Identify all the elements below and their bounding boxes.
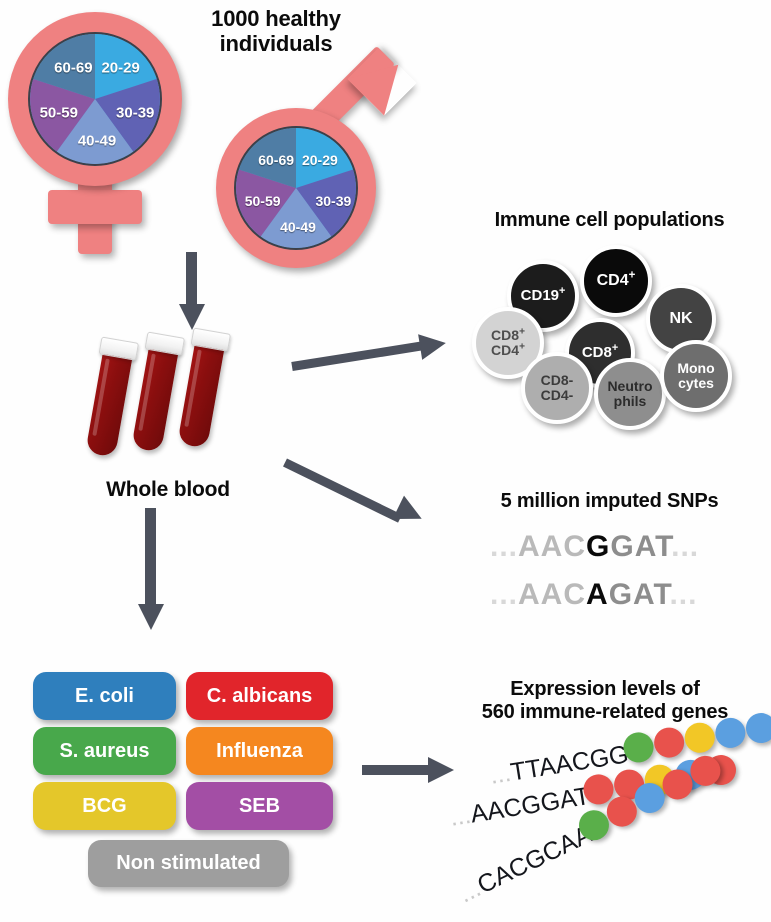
- arrow-head: [418, 330, 448, 360]
- tube-body: [177, 337, 225, 449]
- stimulus-c-albicans[interactable]: C. albicans: [186, 672, 333, 720]
- pie-label-60-69: 60-69: [258, 152, 294, 168]
- stimulus-s-aureus[interactable]: S. aureus: [33, 727, 176, 775]
- snp-suffix: GAT: [609, 578, 670, 611]
- stimulus-label: C. albicans: [207, 685, 313, 708]
- rna-sequence-text: ...CACGCAA: [454, 820, 596, 909]
- immune-cell-cd8-pos: CD8+: [565, 318, 635, 388]
- immune-cell-label: Neutrophils: [607, 379, 652, 408]
- arrow-down-blood-to-stimuli: [135, 508, 165, 638]
- immune-cell-cd8-cd4-double-neg: CD8-CD4-: [521, 352, 593, 424]
- arrow-head: [393, 496, 428, 531]
- arrow-blood-to-immune-cells: [292, 330, 460, 380]
- immune-cell-label: CD8+: [582, 345, 618, 361]
- snp-tail-ellipsis: ...: [671, 530, 699, 563]
- cohort-title: 1000 healthy individuals: [176, 6, 376, 56]
- whole-blood-group: [98, 332, 298, 492]
- immune-cell-label: CD8-CD4-: [541, 373, 574, 402]
- stimulus-non-stimulated[interactable]: Non stimulated: [88, 840, 289, 887]
- arrow-head: [179, 304, 205, 330]
- stimulus-bcg[interactable]: BCG: [33, 782, 176, 830]
- arrow-shaft: [291, 341, 423, 371]
- immune-cell-cd8-cd4-double-pos: CD8+CD4+: [472, 307, 544, 379]
- stimulus-label: S. aureus: [59, 740, 149, 763]
- immune-cell-label: Monocytes: [677, 361, 714, 390]
- male-age-pie: 20-2930-3940-4950-5960-69: [234, 126, 358, 250]
- immune-cell-monocytes: Monocytes: [660, 340, 732, 412]
- pie-label-30-39: 30-39: [116, 105, 154, 122]
- female-age-pie: 20-2930-3940-4950-5960-69: [28, 32, 162, 166]
- rna-bases: CACGCAA: [473, 820, 596, 899]
- pie-label-20-29: 20-29: [101, 60, 139, 77]
- immune-cell-label: CD4+: [597, 273, 636, 290]
- arrow-blood-to-snps: [285, 452, 455, 552]
- snp-variant-base: G: [586, 530, 610, 563]
- male-gender-symbol: 20-2930-3940-4950-5960-69: [208, 82, 418, 262]
- immune-cell-label: CD19+: [521, 288, 566, 304]
- immune-cell-populations-title: Immune cell populations: [452, 209, 767, 232]
- pie-label-40-49: 40-49: [78, 133, 116, 150]
- tube-body: [85, 346, 133, 458]
- stimulus-label: SEB: [239, 795, 280, 818]
- arrow-head: [138, 604, 164, 630]
- cohort-title-line1: 1000 healthy: [176, 6, 376, 31]
- pie-label-20-29: 20-29: [302, 152, 338, 168]
- snp-lead-ellipsis: ...: [490, 578, 518, 611]
- immune-cell-cd19: CD19+: [507, 260, 579, 332]
- snp-variant-base: A: [586, 578, 609, 611]
- pie-label-40-49: 40-49: [280, 219, 316, 235]
- stimulus-label: Non stimulated: [116, 852, 260, 875]
- female-gender-symbol: 20-2930-3940-4950-5960-69: [8, 12, 188, 252]
- stimulus-e-coli[interactable]: E. coli: [33, 672, 176, 720]
- immune-cell-label: NK: [669, 311, 692, 328]
- expression-title-line2: 560 immune-related genes: [444, 701, 766, 724]
- male-arrow-head: [347, 46, 416, 115]
- arrow-shaft: [186, 252, 197, 308]
- immune-cell-cd4-pos: CD4+: [580, 245, 652, 317]
- stimulus-label: E. coli: [75, 685, 134, 708]
- snp-sequence-row: ...AACGGAT...: [490, 530, 699, 564]
- tube-gloss: [184, 350, 201, 428]
- rna-bead: [652, 725, 686, 759]
- arrow-shaft: [283, 458, 402, 522]
- arrow-shaft: [145, 508, 156, 608]
- stimulus-label: BCG: [82, 795, 126, 818]
- rna-bead: [683, 721, 717, 755]
- expression-title-line1: Expression levels of: [444, 678, 766, 701]
- rna-strand-group: ...TTAACGG...AACGGAT...CACGCAA: [440, 740, 771, 920]
- immune-cell-nk: NK: [646, 284, 716, 354]
- snp-lead-ellipsis: ...: [490, 530, 518, 563]
- tube-gloss: [92, 359, 109, 437]
- stimulus-label: Influenza: [216, 740, 303, 763]
- snp-prefix: AAC: [518, 578, 586, 611]
- rna-bases: TTAACGG: [509, 740, 631, 786]
- snp-sequences: ...AACGGAT......AACAGAT...: [490, 530, 750, 625]
- snp-tail-ellipsis: ...: [669, 578, 697, 611]
- snp-sequence-row: ...AACAGAT...: [490, 578, 697, 612]
- rna-strand: ...CACGCAA: [453, 818, 596, 908]
- stimulus-influenza[interactable]: Influenza: [186, 727, 333, 775]
- whole-blood-label: Whole blood: [78, 478, 258, 502]
- pie-label-50-59: 50-59: [245, 193, 281, 209]
- expression-title: Expression levels of 560 immune-related …: [444, 678, 766, 724]
- stimulus-seb[interactable]: SEB: [186, 782, 333, 830]
- pie-label-50-59: 50-59: [40, 105, 78, 122]
- tube-body: [131, 341, 179, 453]
- snps-title: 5 million imputed SNPs: [452, 490, 767, 513]
- immune-cell-label: CD8+CD4+: [491, 328, 525, 357]
- immune-cell-neutrophils: Neutrophils: [594, 358, 666, 430]
- female-cross-horizontal: [48, 190, 142, 224]
- tube-gloss: [138, 354, 155, 432]
- arrow-down-cohort-to-blood: [176, 252, 206, 330]
- pie-label-60-69: 60-69: [54, 60, 92, 77]
- snp-prefix: AAC: [518, 530, 586, 563]
- cohort-title-line2: individuals: [176, 31, 376, 56]
- arrow-shaft: [362, 765, 432, 775]
- pie-label-30-39: 30-39: [315, 193, 351, 209]
- snp-suffix: GAT: [610, 530, 671, 563]
